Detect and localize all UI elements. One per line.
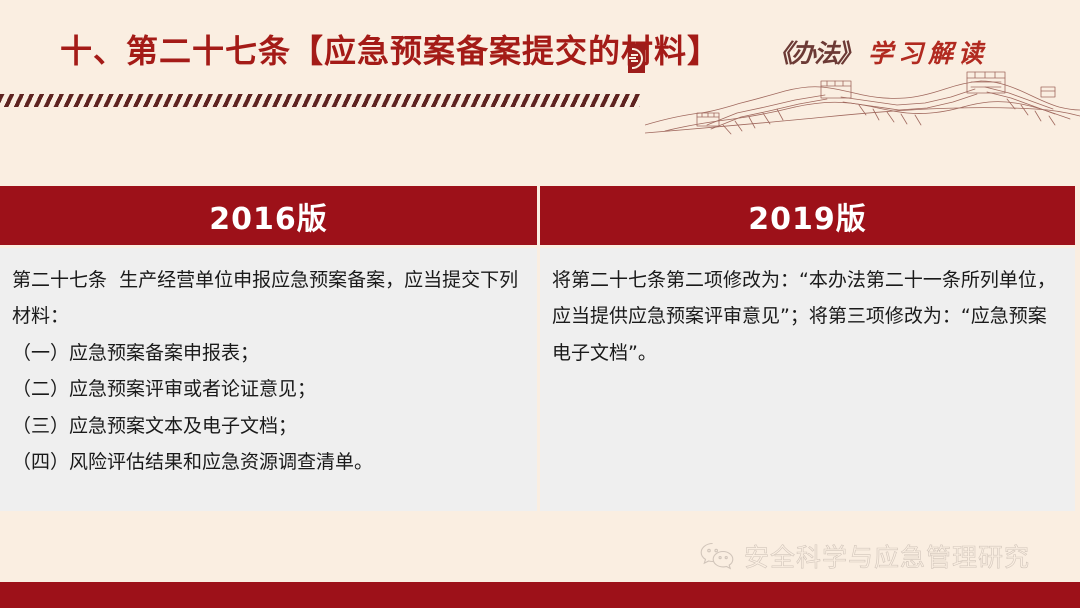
hatched-divider [0, 94, 640, 107]
table-cell-2019-text: 将第二十七条第二项修改为：“本办法第二十一条所列单位，应当提供应急预案评审意见”… [552, 262, 1063, 371]
table-header-2016: 2016版 [0, 186, 537, 245]
red-seal-icon [628, 44, 645, 73]
table-cell-2016-text: 第二十七条 生产经营单位申报应急预案备案，应当提交下列材料： （一）应急预案备案… [12, 262, 525, 481]
watermark-text: 安全科学与应急管理研究 [744, 538, 1030, 574]
comparison-table: 2016版 2019版 第二十七条 生产经营单位申报应急预案备案，应当提交下列材… [0, 186, 1075, 511]
table-cell-2019: 将第二十七条第二项修改为：“本办法第二十一条所列单位，应当提供应急预案评审意见”… [540, 248, 1075, 511]
table-header-2019: 2019版 [540, 186, 1075, 245]
watermark: 安全科学与应急管理研究 [700, 538, 1030, 574]
great-wall-art-icon [645, 55, 1080, 140]
wechat-icon [700, 542, 734, 571]
page-title: 十、第二十七条【应急预案备案提交的材料】 [60, 32, 720, 70]
table-cell-2016: 第二十七条 生产经营单位申报应急预案备案，应当提交下列材料： （一）应急预案备案… [0, 248, 537, 511]
slide-root: 十、第二十七条【应急预案备案提交的材料】 《办法》学习解读 [0, 0, 1080, 608]
footer-bar [0, 582, 1080, 608]
